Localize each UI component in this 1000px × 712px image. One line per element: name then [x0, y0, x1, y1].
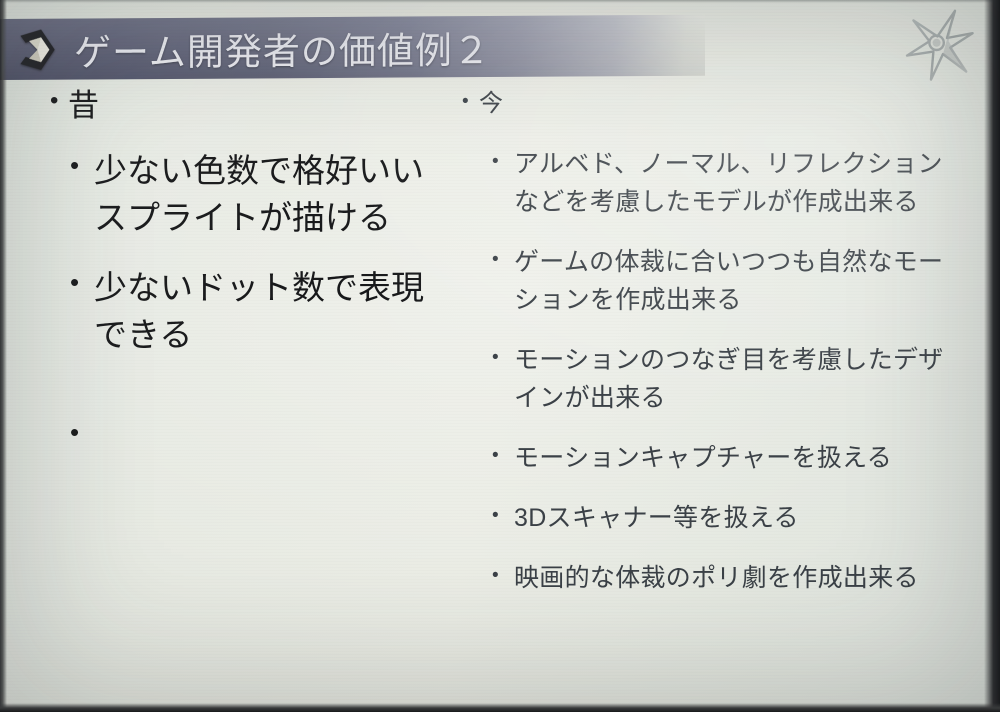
list-item: • アルベド、ノーマル、リフレクションなどを考慮したモデルが作成出来る — [448, 145, 968, 221]
column-right-heading: 今 — [479, 88, 503, 119]
list-item: • ゲームの体裁に合いつつも自然なモーションを作成出来る — [448, 243, 968, 319]
title-row: ゲーム開発者の価値例２ — [0, 14, 760, 80]
list-item: • 映画的な体裁のポリ劇を作成出来る — [448, 559, 968, 597]
list-item: • 少ない色数で格好いいスプライトが描ける — [34, 148, 454, 242]
column-left-heading: 昔 — [68, 88, 99, 124]
right-item-4: モーションキャプチャーを扱える — [514, 439, 968, 477]
bullet-icon: • — [492, 243, 514, 276]
bullet-icon: • — [70, 148, 94, 183]
list-item: • モーションのつなぎ目を考慮したデザインが出来る — [448, 341, 968, 417]
right-item-2: ゲームの体裁に合いつつも自然なモーションを作成出来る — [514, 243, 968, 319]
list-item-empty: • — [34, 415, 454, 450]
page-title: ゲーム開発者の価値例２ — [74, 20, 491, 77]
frame-edge-top — [0, 0, 1000, 3]
star-logo-icon — [896, 6, 982, 86]
bullet-icon: • — [492, 145, 514, 178]
right-item-5: 3Dスキャナー等を扱える — [514, 499, 968, 537]
list-item: • モーションキャプチャーを扱える — [448, 439, 968, 477]
list-item: • 3Dスキャナー等を扱える — [448, 499, 968, 537]
bullet-icon: • — [70, 265, 94, 300]
list-item: • 今 — [448, 88, 968, 119]
presentation-slide: ゲーム開発者の価値例２ • 昔 • 少ない色数で格好いいスプライトが描ける — [0, 0, 1000, 712]
list-item: • 昔 — [34, 88, 454, 124]
left-item-1: 少ない色数で格好いいスプライトが描ける — [94, 148, 454, 242]
frame-edge-bottom — [0, 703, 1000, 712]
bullet-icon: • — [70, 415, 94, 450]
bullet-icon: • — [50, 88, 68, 113]
column-past: • 昔 • 少ない色数で格好いいスプライトが描ける • 少ないドット数で表現でき… — [34, 88, 454, 450]
bullet-icon: • — [492, 559, 514, 592]
bullet-icon: • — [462, 88, 479, 116]
left-item-2: 少ないドット数で表現できる — [94, 265, 454, 359]
list-item: • 少ないドット数で表現できる — [34, 265, 454, 359]
column-present: • 今 • アルベド、ノーマル、リフレクションなどを考慮したモデルが作成出来る … — [448, 88, 968, 597]
slide-body: • 昔 • 少ない色数で格好いいスプライトが描ける • 少ないドット数で表現でき… — [0, 88, 1000, 688]
right-item-3: モーションのつなぎ目を考慮したデザインが出来る — [514, 341, 968, 417]
right-item-6: 映画的な体裁のポリ劇を作成出来る — [514, 559, 968, 597]
bullet-icon: • — [492, 341, 514, 374]
bullet-icon: • — [492, 499, 514, 532]
right-item-1: アルベド、ノーマル、リフレクションなどを考慮したモデルが作成出来る — [514, 145, 968, 221]
bullet-icon: • — [492, 439, 514, 472]
unity-logo-icon — [16, 27, 60, 71]
